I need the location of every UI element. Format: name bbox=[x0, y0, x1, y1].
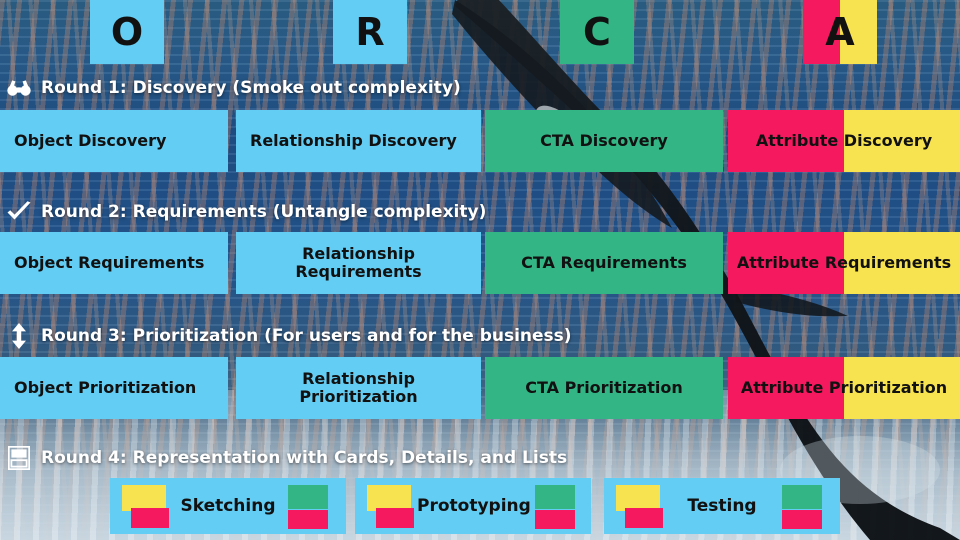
card-attribute-requirements-label: Attribute Requirements bbox=[728, 254, 960, 272]
card-relationship-discovery-label: Relationship Discovery bbox=[236, 132, 481, 150]
card-cta-discovery[interactable]: CTA Discovery bbox=[485, 110, 723, 172]
card-attribute-discovery[interactable]: Attribute Discovery bbox=[728, 110, 960, 172]
card-object-requirements-label: Object Requirements bbox=[0, 254, 228, 272]
round-4-title-text: Round 4: Representation with Cards, Deta… bbox=[41, 448, 567, 468]
prototyping-right-stack-icon bbox=[531, 484, 581, 528]
chip-testing-label: Testing bbox=[666, 496, 778, 516]
round-1-title: Round 1: Discovery (Smoke out complexity… bbox=[6, 74, 461, 102]
orca-letter-tiles: O R C A bbox=[0, 0, 960, 64]
card-attribute-discovery-label: Attribute Discovery bbox=[728, 132, 960, 150]
letter-c-char: C bbox=[583, 13, 611, 51]
chip-testing[interactable]: Testing bbox=[604, 478, 840, 534]
letter-tile-o: O bbox=[90, 0, 164, 64]
chip-sketching-label: Sketching bbox=[172, 496, 284, 516]
round-2-title: Round 2: Requirements (Untangle complexi… bbox=[6, 198, 486, 226]
card-object-discovery[interactable]: Object Discovery bbox=[0, 110, 228, 172]
testing-left-stack-icon bbox=[616, 484, 666, 528]
card-object-discovery-label: Object Discovery bbox=[0, 132, 228, 150]
letter-tile-a: A bbox=[803, 0, 877, 64]
sketching-left-stack-icon bbox=[122, 484, 172, 528]
letter-tile-c: C bbox=[560, 0, 634, 64]
round-2-title-text: Round 2: Requirements (Untangle complexi… bbox=[41, 202, 486, 222]
card-relationship-requirements-label: Relationship Requirements bbox=[236, 245, 481, 281]
sketching-right-stack-icon bbox=[284, 484, 334, 528]
chip-sketching[interactable]: Sketching bbox=[110, 478, 346, 534]
card-cta-requirements[interactable]: CTA Requirements bbox=[485, 232, 723, 294]
round-3-title-text: Round 3: Prioritization (For users and f… bbox=[41, 326, 572, 346]
chip-prototyping[interactable]: Prototyping bbox=[355, 478, 591, 534]
letter-r-char: R bbox=[355, 13, 384, 51]
card-relationship-discovery[interactable]: Relationship Discovery bbox=[236, 110, 481, 172]
binoculars-icon bbox=[6, 76, 32, 100]
card-cta-discovery-label: CTA Discovery bbox=[485, 132, 723, 150]
card-relationship-prioritization[interactable]: Relationship Prioritization bbox=[236, 357, 481, 419]
chip-prototyping-label: Prototyping bbox=[417, 496, 531, 516]
letter-a-char: A bbox=[825, 13, 854, 51]
checkmark-icon bbox=[6, 200, 32, 224]
letter-tile-r: R bbox=[333, 0, 407, 64]
card-attribute-requirements[interactable]: Attribute Requirements bbox=[728, 232, 960, 294]
round-1-title-text: Round 1: Discovery (Smoke out complexity… bbox=[41, 78, 461, 98]
card-attribute-prioritization[interactable]: Attribute Prioritization bbox=[728, 357, 960, 419]
card-cta-prioritization[interactable]: CTA Prioritization bbox=[485, 357, 723, 419]
up-down-arrow-icon bbox=[6, 324, 32, 348]
round-3-title: Round 3: Prioritization (For users and f… bbox=[6, 322, 572, 350]
orca-framework-slide: O R C A Round 1: Discovery bbox=[0, 0, 960, 540]
card-details-icon bbox=[6, 446, 32, 470]
card-relationship-requirements[interactable]: Relationship Requirements bbox=[236, 232, 481, 294]
round-4-title: Round 4: Representation with Cards, Deta… bbox=[6, 444, 567, 472]
card-attribute-prioritization-label: Attribute Prioritization bbox=[728, 379, 960, 397]
card-object-requirements[interactable]: Object Requirements bbox=[0, 232, 228, 294]
prototyping-left-stack-icon bbox=[367, 484, 417, 528]
card-cta-prioritization-label: CTA Prioritization bbox=[485, 379, 723, 397]
card-object-prioritization-label: Object Prioritization bbox=[0, 379, 228, 397]
testing-right-stack-icon bbox=[778, 484, 828, 528]
letter-o-char: O bbox=[111, 13, 143, 51]
card-object-prioritization[interactable]: Object Prioritization bbox=[0, 357, 228, 419]
card-relationship-prioritization-label: Relationship Prioritization bbox=[236, 370, 481, 406]
card-cta-requirements-label: CTA Requirements bbox=[485, 254, 723, 272]
